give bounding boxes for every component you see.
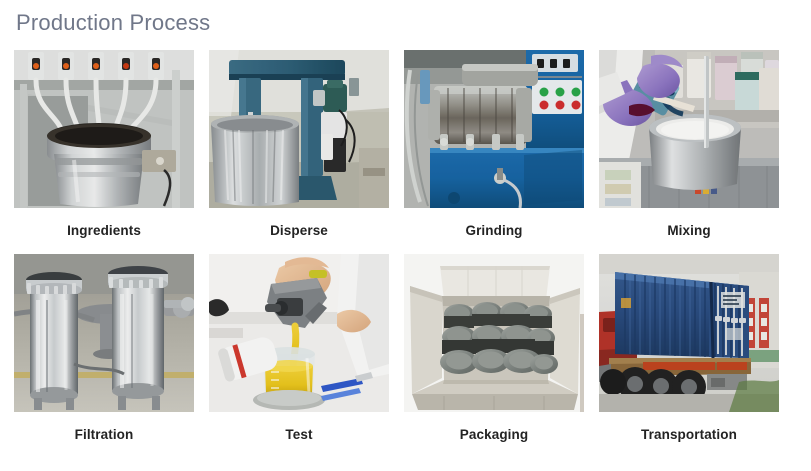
process-step-test[interactable]: Test [209, 254, 389, 458]
filtration-photo [14, 254, 194, 412]
transportation-photo [599, 254, 779, 412]
packaging-photo [404, 254, 584, 412]
process-step-disperse[interactable]: Disperse [209, 50, 389, 254]
grinding-photo [404, 50, 584, 208]
ingredients-photo [14, 50, 194, 208]
process-step-transportation[interactable]: Transportation [599, 254, 779, 458]
test-photo [209, 254, 389, 412]
process-step-ingredients[interactable]: Ingredients [14, 50, 194, 254]
process-step-label: Disperse [209, 208, 389, 254]
process-step-filtration[interactable]: Filtration [14, 254, 194, 458]
disperse-photo [209, 50, 389, 208]
process-step-label: Mixing [599, 208, 779, 254]
process-step-label: Ingredients [14, 208, 194, 254]
process-step-packaging[interactable]: Packaging [404, 254, 584, 458]
process-step-grinding[interactable]: Grinding [404, 50, 584, 254]
process-step-label: Filtration [14, 412, 194, 458]
page-title: Production Process [16, 9, 210, 37]
process-step-label: Packaging [404, 412, 584, 458]
process-step-label: Test [209, 412, 389, 458]
process-step-mixing[interactable]: Mixing [599, 50, 779, 254]
production-process-page: Production Process [0, 0, 811, 471]
process-step-label: Transportation [599, 412, 779, 458]
process-step-label: Grinding [404, 208, 584, 254]
mixing-photo [599, 50, 779, 208]
process-gallery: Ingredients [14, 50, 779, 458]
